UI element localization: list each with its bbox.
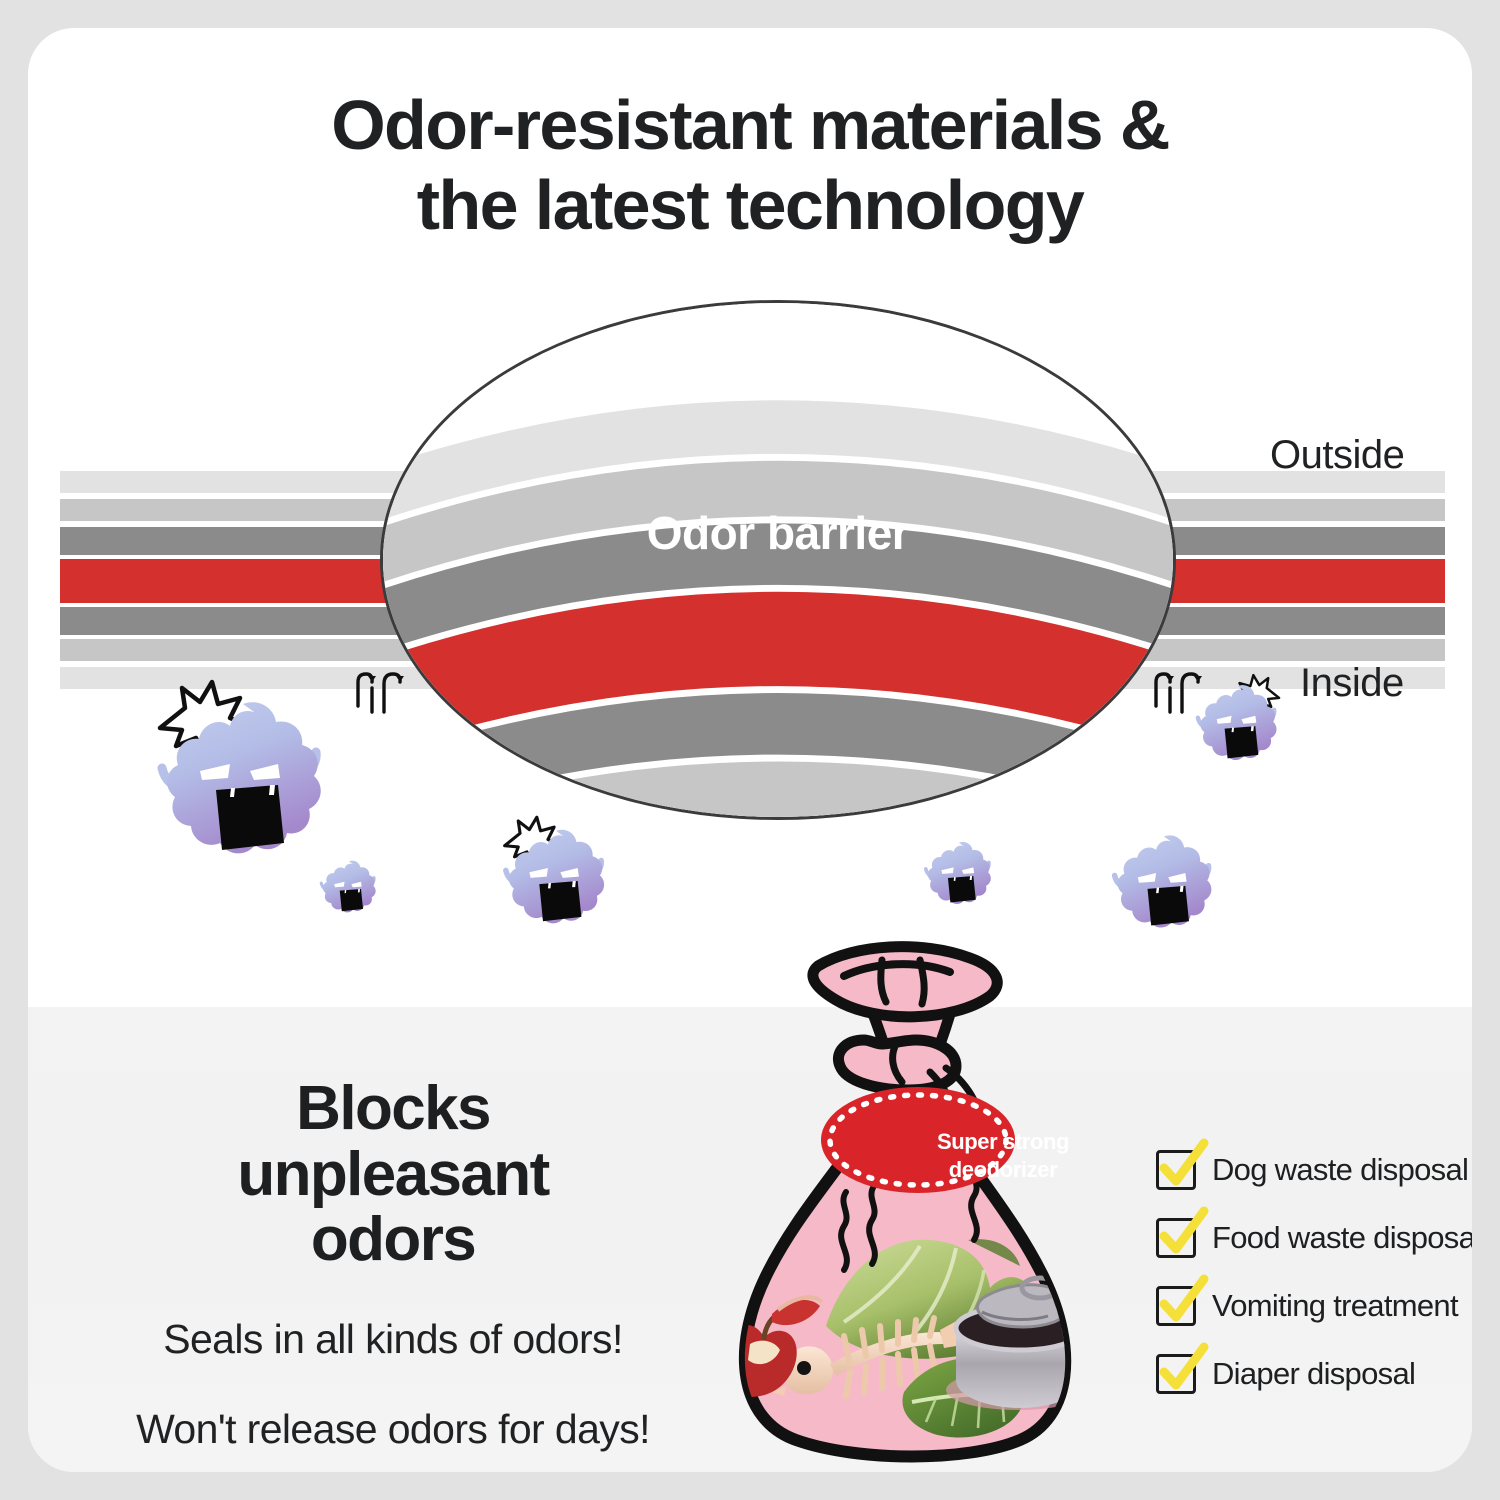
- benefit-subtext-2: Won't release odors for days!: [88, 1409, 698, 1450]
- benefit-heading: Blocks unpleasant odors: [88, 1076, 698, 1273]
- benefit-heading-line-1: Blocks: [88, 1076, 698, 1142]
- checklist-item-label: Dog waste disposal: [1212, 1152, 1468, 1188]
- trash-bag-graphic: [668, 940, 1128, 1470]
- odor-monster-icon: [1100, 814, 1228, 940]
- stink-line-left: [348, 668, 408, 718]
- checklist-item-food-waste-disposal[interactable]: Food waste disposal: [1156, 1204, 1472, 1272]
- benefit-heading-line-2: unpleasant: [88, 1142, 698, 1208]
- odor-monster-icon: [1186, 668, 1290, 770]
- benefit-heading-line-3: odors: [88, 1207, 698, 1273]
- content-card: Odor-resistant materials & the latest te…: [28, 28, 1472, 1472]
- checklist-item-label: Vomiting treatment: [1212, 1288, 1458, 1324]
- inside-label: Inside: [1300, 661, 1404, 706]
- odor-monster-icon: [916, 828, 1002, 912]
- checkbox[interactable]: [1156, 1150, 1196, 1190]
- bag-opening: [813, 947, 997, 1017]
- deodorizer-badge: [821, 1087, 1015, 1193]
- curved-layer-stack: [380, 300, 1176, 820]
- benefit-subtext-1: Seals in all kinds of odors!: [88, 1319, 698, 1360]
- checklist-item-dog-waste-disposal[interactable]: Dog waste disposal: [1156, 1136, 1472, 1204]
- outside-label: Outside: [1270, 433, 1404, 478]
- checkbox[interactable]: [1156, 1286, 1196, 1326]
- checkbox[interactable]: [1156, 1218, 1196, 1258]
- check-icon: [1156, 1209, 1208, 1261]
- checklist-item-diaper-disposal[interactable]: Diaper disposal: [1156, 1340, 1472, 1408]
- odor-monster-icon: [313, 848, 385, 920]
- title-line-1: Odor-resistant materials &: [28, 86, 1472, 166]
- check-icon: [1156, 1141, 1208, 1193]
- benefit-copy: Blocks unpleasant odors Seals in all kin…: [88, 1076, 698, 1450]
- trash-bag-illustration: [668, 940, 1128, 1470]
- use-case-checklist: Dog waste disposal Food waste disposal V…: [1156, 1136, 1472, 1408]
- title-line-2: the latest technology: [28, 166, 1472, 246]
- odor-monster-icon: [138, 668, 348, 873]
- magnifier-lens: [380, 300, 1176, 820]
- infographic-root: Odor-resistant materials & the latest te…: [0, 0, 1500, 1500]
- page-title: Odor-resistant materials & the latest te…: [28, 86, 1472, 246]
- odor-monster-icon: [491, 808, 621, 936]
- check-icon: [1156, 1345, 1208, 1397]
- checklist-item-label: Diaper disposal: [1212, 1356, 1415, 1392]
- check-icon: [1156, 1277, 1208, 1329]
- checkbox[interactable]: [1156, 1354, 1196, 1394]
- checklist-item-label: Food waste disposal: [1212, 1220, 1472, 1256]
- checklist-item-vomiting-treatment[interactable]: Vomiting treatment: [1156, 1272, 1472, 1340]
